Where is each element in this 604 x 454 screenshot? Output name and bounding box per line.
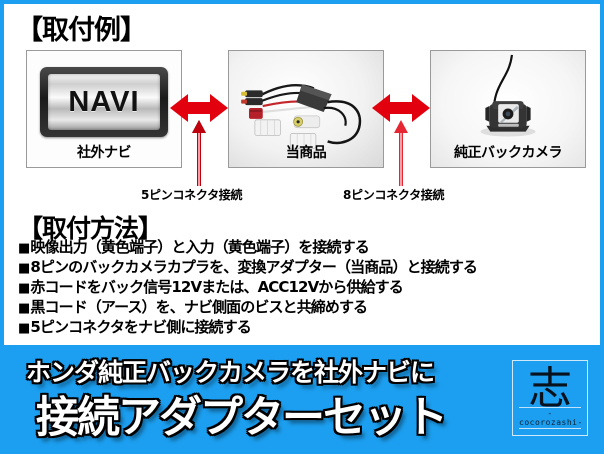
photo-box-camera: 純正バックカメラ	[430, 50, 586, 168]
list-item: ■黒コード（アース）を、ナビ側面のビスと共締めする	[18, 298, 593, 318]
banner-title: 接続アダプターセット	[36, 383, 446, 445]
callout-arrow-icon-right	[392, 120, 410, 186]
step-text: 5ピンコネクタをナビ側に接続する	[30, 318, 250, 336]
step-text: 映像出力（黄色端子）と入力（黄色端子）を接続する	[30, 238, 368, 256]
photo-caption-camera: 純正バックカメラ	[431, 142, 585, 162]
connection-label-5pin: 5ピンコネクタ接続	[141, 186, 242, 203]
installation-steps-list: ■映像出力（黄色端子）と入力（黄色端子）を接続する ■8ピンのバックカメラカプラ…	[18, 238, 593, 338]
callout-arrow-icon-left	[190, 120, 208, 186]
photo-caption-navi: 社外ナビ	[27, 142, 181, 162]
list-item: ■映像出力（黄色端子）と入力（黄色端子）を接続する	[18, 238, 593, 258]
product-image-root: 【取付例】 NAVI 社外ナビ	[0, 0, 604, 454]
navi-unit-bezel: NAVI	[40, 67, 168, 137]
photo-caption-product: 当商品	[229, 142, 383, 162]
step-text: 黒コード（アース）を、ナビ側面のビスと共締めする	[30, 298, 367, 316]
step-text: 8ピンのバックカメラカプラを、変換アダプター（当商品）と接続する	[30, 258, 477, 276]
bullet-icon: ■	[18, 321, 29, 336]
bullet-icon: ■	[18, 281, 29, 296]
brand-logo-romaji: -cocorozashi-	[519, 407, 581, 429]
list-item: ■8ピンのバックカメラカプラを、変換アダプター（当商品）と接続する	[18, 258, 593, 278]
bullet-icon: ■	[18, 261, 29, 276]
connection-label-8pin: 8ピンコネクタ接続	[343, 186, 444, 203]
step-text: 赤コードをバック信号12Vまたは、ACC12Vから供給する	[30, 278, 403, 296]
list-item: ■5ピンコネクタをナビ側に接続する	[18, 318, 593, 338]
navi-screen-label: NAVI	[68, 86, 139, 119]
bullet-icon: ■	[18, 301, 29, 316]
info-panel: 【取付例】 NAVI 社外ナビ	[4, 4, 600, 345]
installation-example-title: 【取付例】	[16, 8, 146, 47]
navi-unit-screen: NAVI	[48, 74, 160, 130]
bullet-icon: ■	[18, 241, 29, 256]
brand-logo: 志 -cocorozashi-	[512, 360, 588, 436]
photo-box-navi: NAVI 社外ナビ	[26, 50, 182, 168]
list-item: ■赤コードをバック信号12Vまたは、ACC12Vから供給する	[18, 278, 593, 298]
photo-box-product: 当商品	[228, 50, 384, 168]
